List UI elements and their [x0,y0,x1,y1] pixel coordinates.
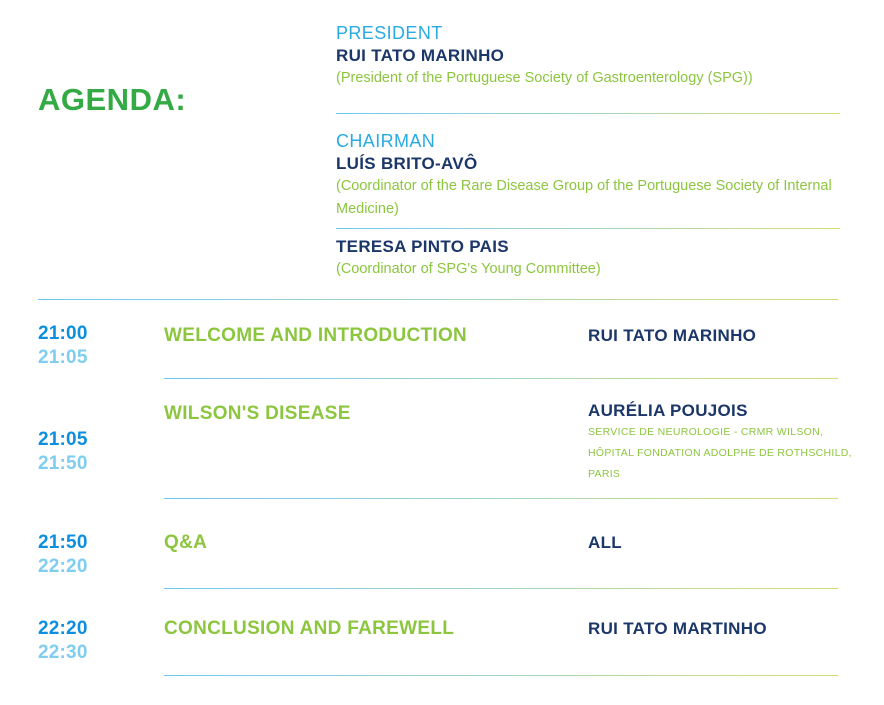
official-name: RUI TATO MARINHO [336,44,753,67]
divider-row [164,588,838,589]
official-affiliation: (Coordinator of SPG's Young Committee) [336,258,601,281]
official-affiliation: (President of the Portuguese Society of … [336,67,753,90]
schedule-speaker: RUI TATO MARINHO [588,325,756,347]
divider-president [336,113,840,114]
official-name: LUÍS BRITO-AVÔ [336,152,840,175]
time-start: 21:50 [38,531,88,555]
speaker-name: RUI TATO MARTINHO [588,618,767,640]
official-president: PRESIDENT RUI TATO MARINHO (President of… [336,22,753,90]
divider-chairman [336,228,840,229]
schedule-time: 21:50 22:20 [38,531,88,579]
schedule-time: 21:05 21:50 [38,428,88,476]
divider-row [164,498,838,499]
divider-row [164,378,838,379]
schedule-time: 21:00 21:05 [38,322,88,370]
speaker-affiliation-line: HÔPITAL FONDATION ADOLPHE DE ROTHSCHILD, [588,443,852,464]
speaker-affiliation-line: SERVICE DE NEUROLOGIE - CRMR WILSON, [588,422,852,443]
schedule-title: WELCOME AND INTRODUCTION [164,324,467,348]
time-end: 21:05 [38,346,88,370]
official-young-committee: TERESA PINTO PAIS (Coordinator of SPG's … [336,235,601,281]
divider-row [164,675,838,676]
time-end: 22:20 [38,555,88,579]
time-end: 22:30 [38,641,88,665]
official-affiliation: (Coordinator of the Rare Disease Group o… [336,175,840,221]
official-chairman: CHAIRMAN LUÍS BRITO-AVÔ (Coordinator of … [336,130,840,221]
schedule-speaker: ALL [588,532,622,554]
official-role: PRESIDENT [336,22,753,44]
time-start: 21:00 [38,322,88,346]
official-role: CHAIRMAN [336,130,840,152]
schedule-speaker: AURÉLIA POUJOIS SERVICE DE NEUROLOGIE - … [588,400,852,485]
agenda-header: AGENDA: PRESIDENT RUI TATO MARINHO (Pres… [0,0,884,300]
official-name: TERESA PINTO PAIS [336,235,601,258]
schedule-title: Q&A [164,531,207,555]
speaker-affiliation-line: PARIS [588,464,852,485]
time-start: 22:20 [38,617,88,641]
speaker-name: ALL [588,532,622,554]
time-start: 21:05 [38,428,88,452]
divider-schedule-top [38,299,838,300]
schedule-speaker: RUI TATO MARTINHO [588,618,767,640]
speaker-name: RUI TATO MARINHO [588,325,756,347]
speaker-name: AURÉLIA POUJOIS [588,400,852,422]
schedule-time: 22:20 22:30 [38,617,88,665]
schedule-title: WILSON'S DISEASE [164,402,351,426]
time-end: 21:50 [38,452,88,476]
schedule-title: CONCLUSION AND FAREWELL [164,617,454,641]
page-title: AGENDA: [38,82,186,118]
